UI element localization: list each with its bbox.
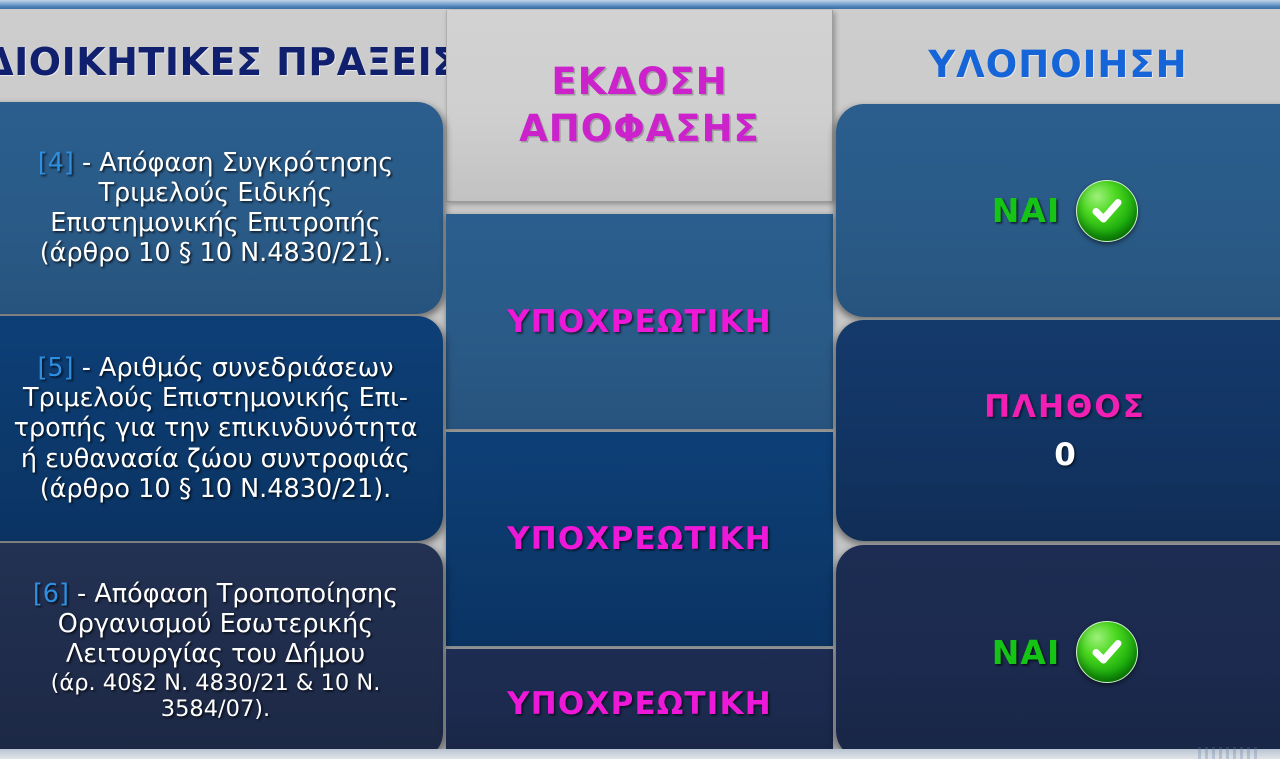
implementation-cell-row1[interactable]: ΝΑΙ (836, 104, 1280, 317)
check-circle-icon (1076, 621, 1138, 683)
column-header-implementation: ΥΛΟΠΟΙΗΣΗ (836, 35, 1280, 93)
act-line-row1-4: (άρθρο 10 § 10 Ν.4830/21). (2, 238, 429, 268)
act-cell-row3[interactable]: [6] - Απόφαση Τροποποίησης Οργανισμού Εσ… (0, 543, 443, 759)
act-line-row1-2: Τριμελούς Ειδικής (2, 178, 429, 208)
column-header-administrative-acts: ΔΙΟΙΚΗΤΙΚΕΣ ΠΡΑΞΕΙΣ (0, 31, 443, 93)
check-circle-icon (1076, 180, 1138, 242)
implementation-label-row1: ΝΑΙ (992, 191, 1060, 230)
implementation-cell-row2[interactable]: ΠΛΗΘΟΣ 0 (836, 320, 1280, 541)
act-line-row3-1: - Απόφαση Τροποποίησης (77, 579, 398, 609)
implementation-label-row3: ΝΑΙ (992, 633, 1060, 672)
act-line-row2-1: - Αριθμός συνεδριάσεων (82, 353, 394, 383)
act-index-row1: [4] (38, 148, 74, 178)
act-line-row3-3: Λειτουργίας του Δήμου (2, 639, 429, 669)
implementation-count-label-row2: ΠΛΗΘΟΣ (984, 389, 1146, 425)
act-index-row3: [6] (33, 579, 69, 609)
implementation-yes-row1: ΝΑΙ (992, 180, 1138, 242)
top-accent-band (0, 0, 1280, 9)
column-header-decision-issuance: ΕΚΔΟΣΗ ΑΠΟΦΑΣΗΣ (446, 10, 833, 202)
act-line-row3-2: Οργανισμού Εσωτερικής (2, 609, 429, 639)
act-line-row2-5: (άρθρο 10 § 10 Ν.4830/21). (2, 474, 429, 504)
footer-strip (0, 749, 1280, 759)
column-header-issuance-line2: ΑΠΟΦΑΣΗΣ (519, 108, 760, 151)
act-line-row1-3: Επιστημονικής Επιτροπής (2, 208, 429, 238)
act-line-row2-3: τροπής για την επικινδυνότητα (2, 413, 429, 443)
act-line-row2-2: Τριμελούς Επιστημονικής Επι- (2, 383, 429, 413)
act-index-row2: [5] (37, 353, 73, 383)
act-line-row3-4: (άρ. 40§2 Ν. 4830/21 & 10 Ν. 3584/07). (2, 670, 429, 723)
column-header-issuance-line1: ΕΚΔΟΣΗ (551, 61, 727, 104)
implementation-count-value-row2: 0 (1054, 437, 1076, 473)
issuance-label-row3: ΥΠΟΧΡΕΩΤΙΚΗ (507, 686, 772, 722)
act-cell-row1[interactable]: [4] - Απόφαση Συγκρότησης Τριμελούς Ειδι… (0, 102, 443, 314)
slide-stage: ΔΙΟΙΚΗΤΙΚΕΣ ΠΡΑΞΕΙΣ ΕΚΔΟΣΗ ΑΠΟΦΑΣΗΣ ΥΛΟΠ… (0, 9, 1280, 759)
act-text-row1: [4] - Απόφαση Συγκρότησης Τριμελούς Ειδι… (2, 148, 429, 268)
implementation-yes-row3: ΝΑΙ (992, 621, 1138, 683)
issuance-cell-row1[interactable]: ΥΠΟΧΡΕΩΤΙΚΗ (446, 214, 833, 429)
issuance-cell-row3[interactable]: ΥΠΟΧΡΕΩΤΙΚΗ (446, 649, 833, 759)
act-cell-row2[interactable]: [5] - Αριθμός συνεδριάσεων Τριμελούς Επι… (0, 316, 443, 541)
act-line-row1-1: - Απόφαση Συγκρότησης (82, 148, 393, 178)
implementation-cell-row3[interactable]: ΝΑΙ (836, 545, 1280, 759)
act-line-row2-4: ή ευθανασία ζώου συντροφιάς (2, 444, 429, 474)
act-text-row2: [5] - Αριθμός συνεδριάσεων Τριμελούς Επι… (2, 353, 429, 503)
issuance-cell-row2[interactable]: ΥΠΟΧΡΕΩΤΙΚΗ (446, 432, 833, 646)
footer-cutoff-artifact (1198, 747, 1258, 759)
act-text-row3: [6] - Απόφαση Τροποποίησης Οργανισμού Εσ… (2, 579, 429, 722)
issuance-label-row2: ΥΠΟΧΡΕΩΤΙΚΗ (507, 521, 772, 557)
issuance-label-row1: ΥΠΟΧΡΕΩΤΙΚΗ (507, 304, 772, 340)
